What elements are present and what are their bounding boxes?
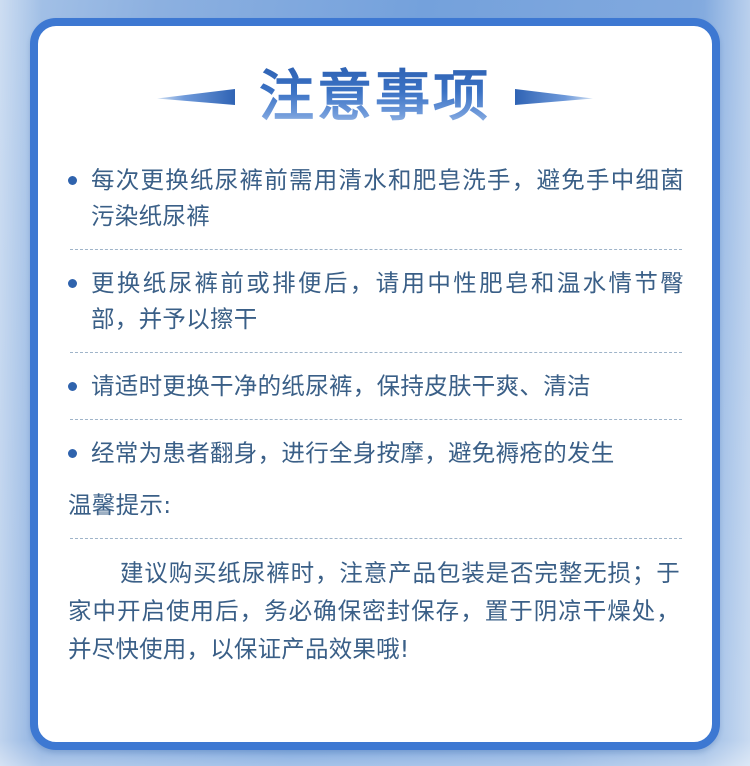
note-text: 请适时更换干净的纸尿裤，保持皮肤干爽、清洁 — [91, 368, 684, 404]
tip-body: 建议购买纸尿裤时，注意产品包装是否完整无损；于家中开启使用后，务必确保密封保存，… — [68, 554, 684, 668]
list-item: 请适时更换干净的纸尿裤，保持皮肤干爽、清洁 — [68, 368, 684, 404]
bullet-point-icon — [68, 382, 77, 391]
note-text: 经常为患者翻身，进行全身按摩，避免褥疮的发生 — [91, 435, 684, 471]
top-spacer — [68, 138, 684, 162]
divider — [70, 419, 682, 420]
right-arrow-wedge-icon — [515, 85, 593, 113]
list-item: 更换纸尿裤前或排便后，请用中性肥皂和温水情节臀部，并予以擦干 — [68, 265, 684, 337]
note-text: 更换纸尿裤前或排便后，请用中性肥皂和温水情节臀部，并予以擦干 — [91, 265, 684, 337]
list-item: 每次更换纸尿裤前需用清水和肥皂洗手，避免手中细菌污染纸尿裤 — [68, 162, 684, 234]
bullet-point-icon — [68, 279, 77, 288]
divider — [70, 249, 682, 250]
list-item: 经常为患者翻身，进行全身按摩，避免褥疮的发生 — [68, 435, 684, 471]
bullet-point-icon — [68, 176, 77, 185]
header: 注意事项 — [38, 60, 712, 138]
tip-label: 温馨提示: — [68, 487, 684, 523]
poster-root: 注意事项 — [0, 0, 750, 766]
bullet-point-icon — [68, 449, 77, 458]
notice-content: 每次更换纸尿裤前需用清水和肥皂洗手，避免手中细菌污染纸尿裤 更换纸尿裤前或排便后… — [38, 138, 712, 668]
notice-card-inner: 注意事项 — [38, 26, 712, 742]
divider — [70, 538, 682, 539]
notice-card: 注意事项 — [30, 18, 720, 750]
divider — [70, 352, 682, 353]
page-title: 注意事项 — [255, 67, 495, 132]
note-text: 每次更换纸尿裤前需用清水和肥皂洗手，避免手中细菌污染纸尿裤 — [91, 162, 684, 234]
left-arrow-wedge-icon — [157, 85, 235, 113]
